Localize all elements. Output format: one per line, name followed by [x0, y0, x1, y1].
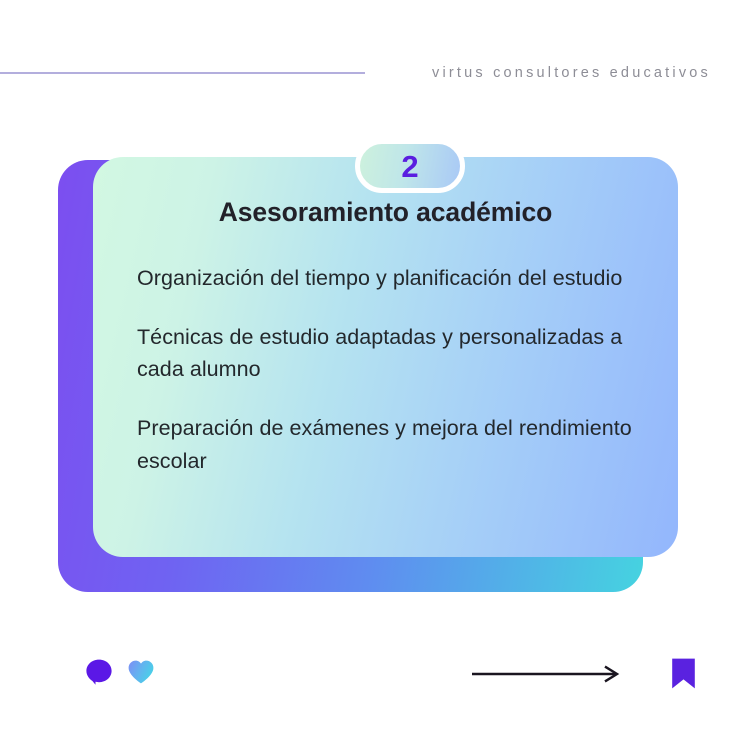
card-bullet-list: Organización del tiempo y planificación …: [137, 262, 634, 477]
card-content: Asesoramiento académico Organización del…: [93, 157, 678, 557]
comment-bubble-icon[interactable]: [84, 657, 114, 687]
bookmark-icon[interactable]: [670, 657, 697, 690]
step-number-badge: 2: [355, 139, 465, 193]
heart-icon[interactable]: [126, 657, 156, 687]
content-card-stack: Asesoramiento académico Organización del…: [58, 160, 678, 592]
card-front-layer: Asesoramiento académico Organización del…: [93, 157, 678, 557]
arrow-right-icon[interactable]: [470, 662, 626, 686]
page-header: virtus consultores educativos: [0, 58, 735, 88]
list-item: Técnicas de estudio adaptadas y personal…: [137, 321, 634, 386]
page-footer: [0, 650, 735, 714]
brand-name: virtus consultores educativos: [365, 65, 735, 81]
card-title: Asesoramiento académico: [137, 197, 634, 228]
header-divider-line: [0, 72, 365, 74]
list-item: Preparación de exámenes y mejora del ren…: [137, 412, 634, 477]
list-item: Organización del tiempo y planificación …: [137, 262, 634, 295]
footer-social-actions: [84, 657, 156, 687]
footer-nav-actions: [470, 657, 697, 690]
step-number-label: 2: [401, 151, 418, 182]
